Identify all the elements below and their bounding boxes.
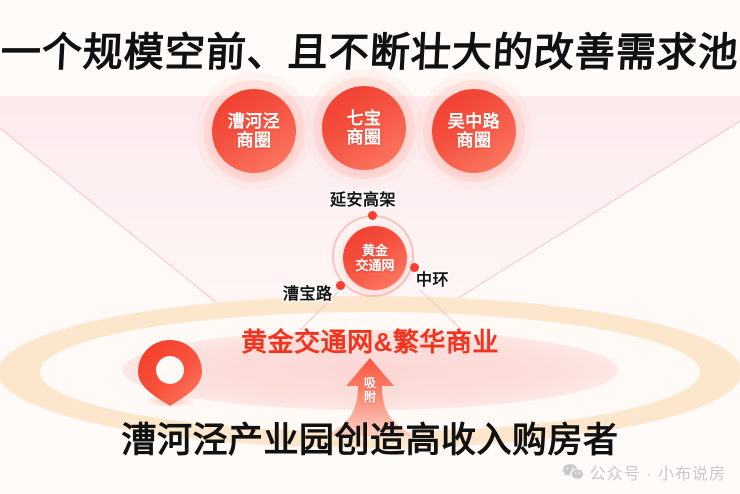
- road-label-caobao: 漕宝路: [283, 280, 333, 304]
- core-line2: 交通网: [355, 258, 394, 273]
- bubble-3-line2: 商圈: [457, 131, 492, 150]
- absorb-char-2: 附: [358, 390, 382, 404]
- watermark-text: 公众号 · 小布说房: [590, 460, 726, 484]
- watermark: 公众号 · 小布说房: [562, 460, 726, 484]
- traffic-core: 黄金 交通网: [343, 226, 407, 290]
- business-circle-bubble-1[interactable]: 漕河泾 商圈: [212, 89, 296, 173]
- bubble-1-line2: 商圈: [237, 131, 272, 150]
- bubble-1-line1: 漕河泾: [228, 112, 281, 131]
- absorb-label: 吸 附: [358, 376, 382, 404]
- business-circle-bubble-3[interactable]: 吴中路 商圈: [432, 89, 516, 173]
- bubble-2-line2: 商圈: [347, 128, 382, 147]
- page-title: 一个规模空前、且不断壮大的改善需求池: [0, 20, 740, 78]
- business-circle-bubble-2[interactable]: 七宝 商圈: [322, 86, 406, 170]
- absorb-char-1: 吸: [358, 376, 382, 390]
- infographic-canvas: 一个规模空前、且不断壮大的改善需求池 漕河泾 商圈 七宝 商圈 吴中路 商圈 黄…: [0, 0, 740, 494]
- road-dot-yanan: [368, 211, 377, 220]
- bubble-2-line1: 七宝: [347, 109, 382, 128]
- wechat-icon: [562, 463, 584, 482]
- bottom-headline: 漕河泾产业园创造高收入购房者: [0, 412, 740, 463]
- golden-traffic-network[interactable]: 黄金 交通网: [332, 215, 418, 301]
- road-label-zhonghuan: 中环: [416, 266, 449, 290]
- bubble-3-line1: 吴中路: [448, 112, 501, 131]
- road-dot-caobao: [336, 281, 345, 290]
- highlight-text: 黄金交通网&繁华商业: [0, 322, 740, 359]
- core-line1: 黄金: [362, 243, 388, 258]
- road-label-yanan: 延安高架: [330, 186, 396, 210]
